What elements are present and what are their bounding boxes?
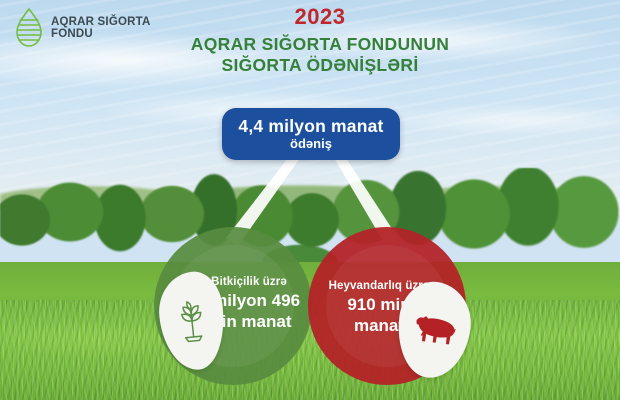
title-line-2: SIĞORTA ÖDƏNİŞLƏRİ: [160, 55, 480, 76]
total-amount: 4,4 milyon manat: [238, 117, 383, 135]
plant-seedling-icon: [170, 297, 214, 345]
logo-wordmark: AQRAR SIĞORTA FONDU: [51, 16, 151, 41]
logo-line-1: AQRAR SIĞORTA: [51, 16, 151, 28]
headline-block: 2023 AQRAR SIĞORTA FONDUNUN SIĞORTA ÖDƏN…: [160, 6, 480, 77]
total-amount-label: ödəniş: [290, 137, 332, 151]
page-title: AQRAR SIĞORTA FONDUNUN SIĞORTA ÖDƏNİŞLƏR…: [160, 34, 480, 77]
title-line-1: AQRAR SIĞORTA FONDUNUN: [160, 34, 480, 55]
year-label: 2023: [160, 6, 480, 28]
logo-line-2: FONDU: [51, 28, 151, 40]
total-payment-banner: 4,4 milyon manat ödəniş: [222, 108, 400, 160]
brand-logo: AQRAR SIĞORTA FONDU: [14, 8, 151, 48]
cow-icon: [409, 310, 459, 349]
leaf-droplet-logo-icon: [14, 8, 44, 48]
infographic-canvas: AQRAR SIĞORTA FONDU 2023 AQRAR SIĞORTA F…: [0, 0, 620, 400]
